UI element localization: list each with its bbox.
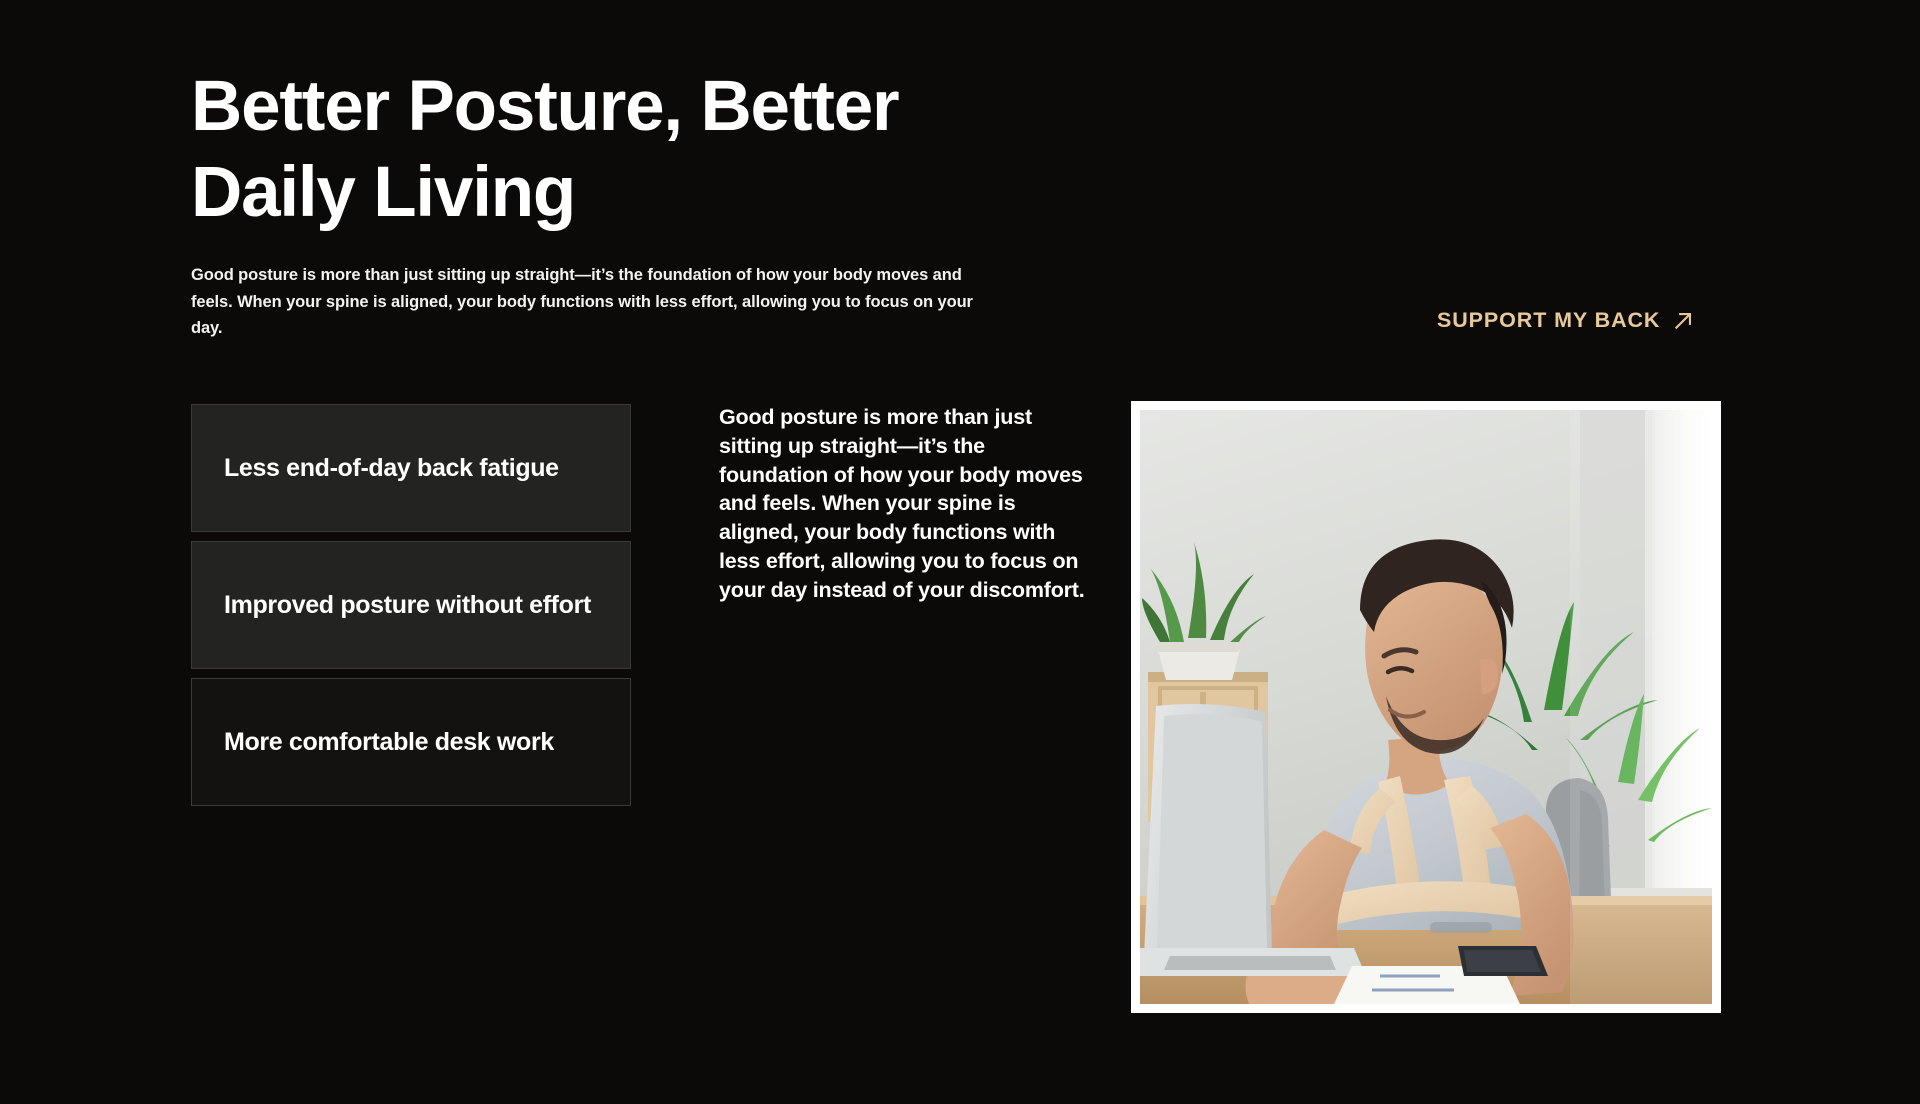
benefit-card[interactable]: Improved posture without effort	[191, 541, 631, 669]
lifestyle-photo	[1140, 410, 1712, 1004]
benefit-card[interactable]: More comfortable desk work	[191, 678, 631, 806]
cta-label: SUPPORT MY BACK	[1437, 308, 1660, 333]
benefit-card-list: Less end-of-day back fatigue Improved po…	[191, 404, 631, 806]
benefit-card-title: More comfortable desk work	[224, 724, 554, 761]
landing-page-section: Better Posture, Better Daily Living Good…	[0, 0, 1920, 1104]
hero-subheading: Good posture is more than just sitting u…	[191, 262, 991, 342]
benefit-card-title: Improved posture without effort	[224, 587, 591, 624]
body-copy-paragraph: Good posture is more than just sitting u…	[719, 403, 1099, 605]
photo-frame	[1131, 401, 1721, 1013]
arrow-up-right-icon	[1674, 311, 1693, 330]
benefit-card[interactable]: Less end-of-day back fatigue	[191, 404, 631, 532]
benefit-card-title: Less end-of-day back fatigue	[224, 450, 559, 487]
page-title: Better Posture, Better Daily Living	[191, 64, 1011, 236]
support-my-back-cta[interactable]: SUPPORT MY BACK	[1437, 308, 1693, 333]
